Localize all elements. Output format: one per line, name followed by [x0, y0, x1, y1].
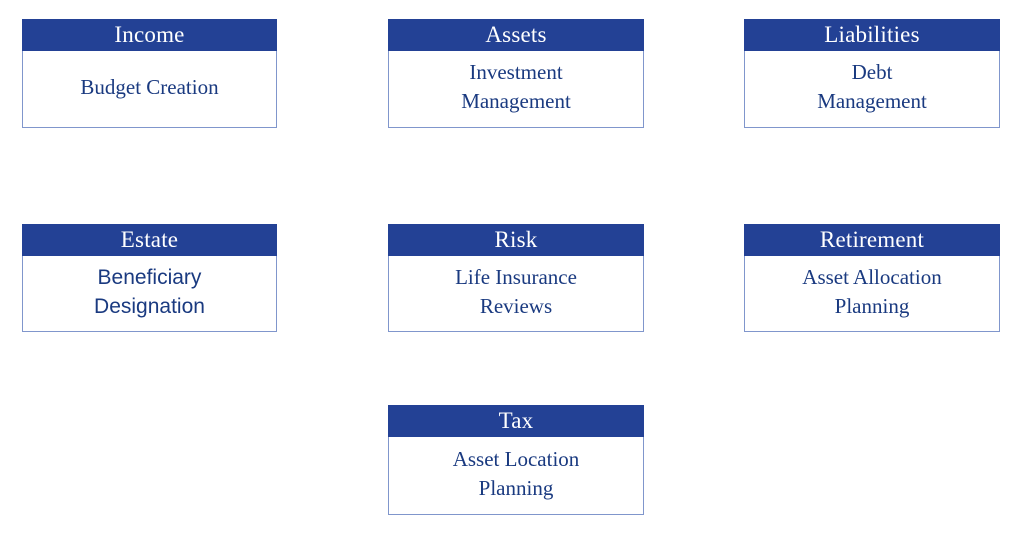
card-estate-header: Estate	[22, 224, 277, 256]
card-tax[interactable]: Tax Asset Location Planning	[388, 405, 644, 515]
card-assets-body-text: Investment Management	[461, 58, 571, 116]
card-income-header: Income	[22, 19, 277, 51]
card-liabilities-body-text: Debt Management	[817, 58, 927, 116]
card-income-body-text: Budget Creation	[80, 73, 218, 102]
card-retirement-body-text: Asset Allocation Planning	[802, 263, 941, 321]
card-retirement-body: Asset Allocation Planning	[745, 256, 999, 331]
card-income-body: Budget Creation	[23, 51, 276, 127]
card-risk-body-text: Life Insurance Reviews	[455, 263, 577, 321]
card-tax-body-text: Asset Location Planning	[453, 445, 580, 503]
card-risk-body: Life Insurance Reviews	[389, 256, 643, 331]
card-liabilities-body: Debt Management	[745, 51, 999, 127]
diagram-canvas: Income Budget Creation Assets Investment…	[0, 0, 1035, 545]
card-retirement-header: Retirement	[744, 224, 1000, 256]
card-income[interactable]: Income Budget Creation	[22, 19, 277, 128]
card-estate[interactable]: Estate Beneficiary Designation	[22, 224, 277, 332]
card-tax-body: Asset Location Planning	[389, 437, 643, 514]
card-assets-body: Investment Management	[389, 51, 643, 127]
card-liabilities-header: Liabilities	[744, 19, 1000, 51]
card-assets[interactable]: Assets Investment Management	[388, 19, 644, 128]
card-risk-header: Risk	[388, 224, 644, 256]
card-estate-body: Beneficiary Designation	[23, 256, 276, 331]
card-tax-header: Tax	[388, 405, 644, 437]
card-risk[interactable]: Risk Life Insurance Reviews	[388, 224, 644, 332]
card-liabilities[interactable]: Liabilities Debt Management	[744, 19, 1000, 128]
card-assets-header: Assets	[388, 19, 644, 51]
card-estate-body-text: Beneficiary Designation	[94, 263, 205, 321]
card-retirement[interactable]: Retirement Asset Allocation Planning	[744, 224, 1000, 332]
